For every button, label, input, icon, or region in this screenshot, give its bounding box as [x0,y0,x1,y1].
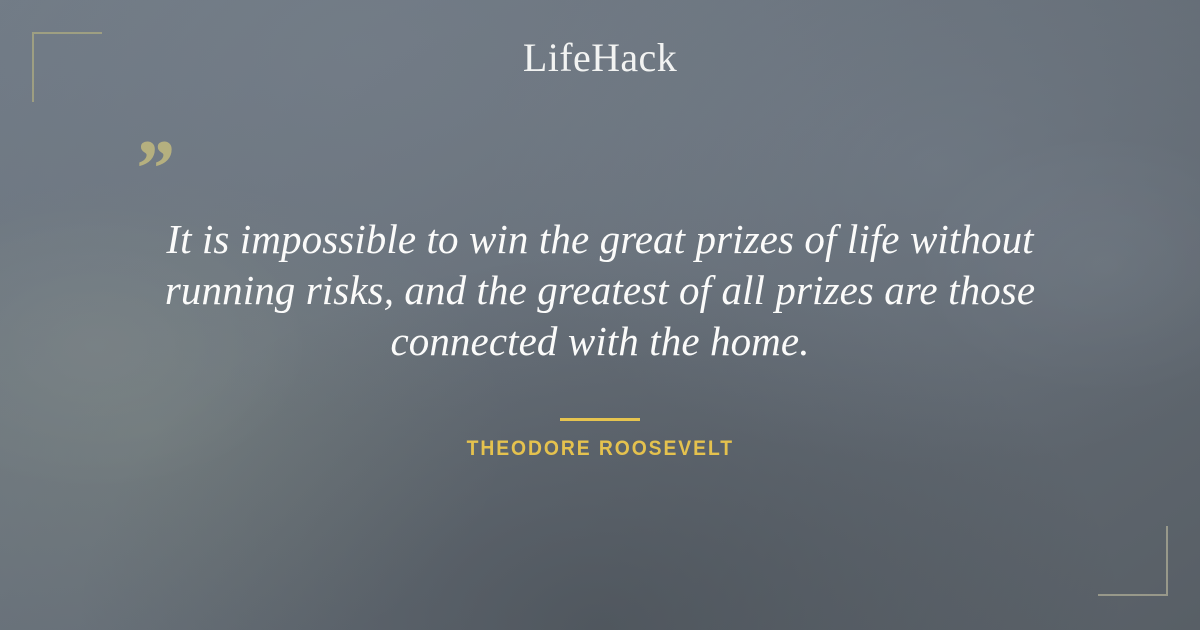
corner-bracket-bottom-right-icon [1098,526,1168,596]
quote-line: running risks, and the greatest of all p… [100,265,1100,316]
attribution-container: THEODORE ROOSEVELT [0,437,1200,461]
brand-logo: LifeHack [0,38,1200,78]
quote-line: connected with the home. [100,316,1100,367]
brand-name: LifeHack [523,38,677,78]
quote-card: LifeHack ” It is impossible to win the g… [0,0,1200,630]
quote-author: THEODORE ROOSEVELT [466,437,733,461]
quotation-mark-icon: ” [132,128,173,210]
gold-divider-rule [560,418,640,421]
divider-container [0,408,1200,426]
quote-text: It is impossible to win the great prizes… [100,214,1100,367]
quote-line: It is impossible to win the great prizes… [100,214,1100,265]
